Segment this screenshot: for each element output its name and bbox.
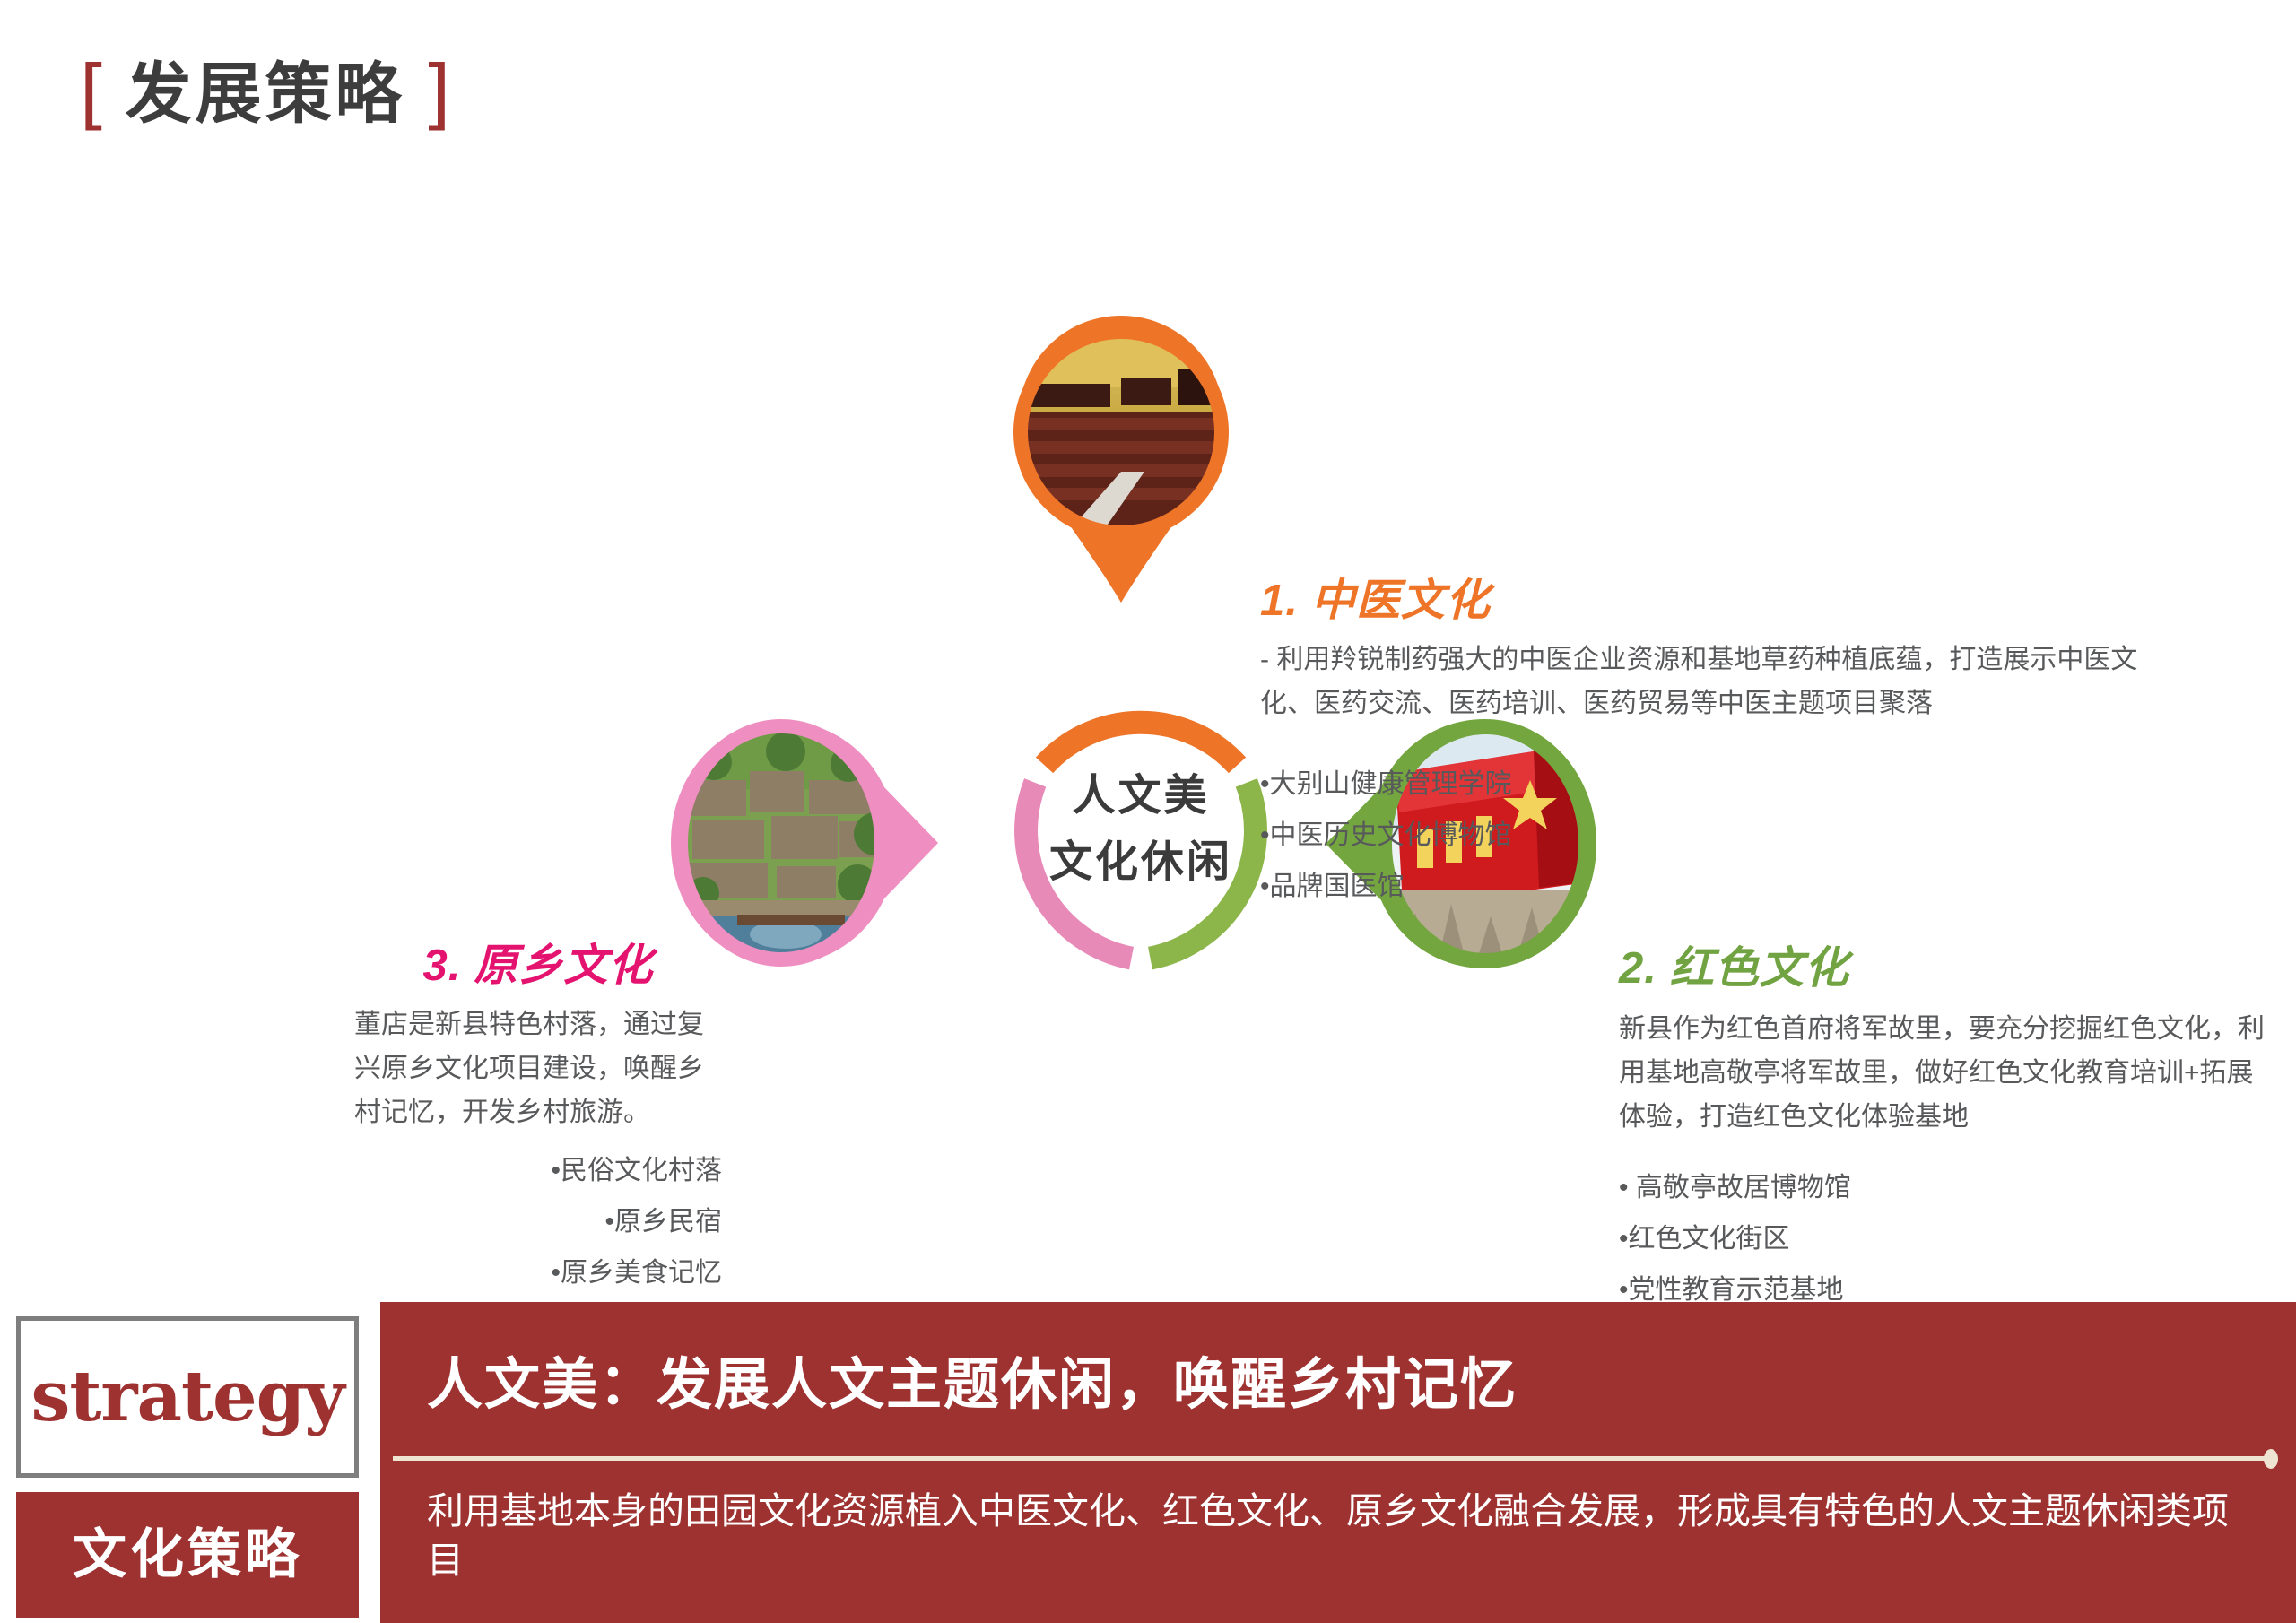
- culture-strategy-badge-label: 文化策略: [73, 1528, 302, 1582]
- section-3-number: 3.: [423, 942, 462, 990]
- banner-title: 人文美：发展人文主题休闲，唤醒乡村记忆: [427, 1358, 1518, 1413]
- section-3-list: •民俗文化村落 •原乡民宿 •原乡美食记忆: [354, 1145, 722, 1298]
- center-ring-label: 人文美 文化休闲: [979, 668, 1302, 991]
- culture-strategy-badge: 文化策略: [16, 1492, 359, 1618]
- section-native-village-culture: 3.原乡文化 董店是新县特色村落，通过复兴原乡文化项目建设，唤醒乡村记忆，开发乡…: [354, 943, 722, 1298]
- section-2-number: 2.: [1619, 944, 1657, 993]
- section-tcm-culture: 1.中医文化 - 利用羚锐制药强大的中医企业资源和基地草药种植底蕴，打造展示中医…: [1260, 578, 2166, 912]
- strategy-badge-label: strategy: [30, 1362, 344, 1432]
- section-red-culture: 2.红色文化 新县作为红色首府将军故里，要充分挖掘红色文化，利用基地高敬亭将军故…: [1619, 946, 2296, 1315]
- bracket-left-icon: [: [79, 56, 109, 133]
- section-3-heading: 3.原乡文化: [354, 943, 722, 989]
- section-2-list: • 高敬亭故居博物馆 •红色文化街区 •党性教育示范基地: [1619, 1162, 2296, 1315]
- center-line-1: 人文美: [1072, 775, 1209, 818]
- strategy-diagram: 人文美 文化休闲 1.中医文化 - 利用羚锐制药强大的中医企业资源和基地草药种植…: [0, 269, 2296, 1184]
- pin-native-village-culture[interactable]: [651, 708, 956, 977]
- section-1-lead: - 利用羚锐制药强大的中医企业资源和基地草药种植底蕴，打造展示中医文化、医药交流…: [1260, 638, 2166, 725]
- banner-divider: [393, 1456, 2271, 1461]
- pin-tcm-culture[interactable]: [987, 307, 1256, 621]
- section-2-lead: 新县作为红色首府将军故里，要充分挖掘红色文化，利用基地高敬亭将军故里，做好红色文…: [1619, 1008, 2274, 1139]
- list-item: •大别山健康管理学院: [1260, 759, 2166, 810]
- footer-bar: 人文美：发展人文主题休闲，唤醒乡村记忆 利用基地本身的田园文化资源植入中医文化、…: [0, 1302, 2296, 1623]
- footer-banner: 人文美：发展人文主题休闲，唤醒乡村记忆 利用基地本身的田园文化资源植入中医文化、…: [380, 1302, 2296, 1623]
- section-2-heading: 2.红色文化: [1619, 946, 2296, 992]
- section-1-title: 中医文化: [1311, 577, 1491, 625]
- section-1-heading: 1.中医文化: [1260, 578, 2166, 624]
- section-2-title: 红色文化: [1670, 944, 1849, 993]
- list-item: •原乡美食记忆: [354, 1247, 722, 1298]
- bracket-right-icon: ]: [422, 56, 452, 133]
- section-1-number: 1.: [1260, 577, 1299, 625]
- strategy-badge: strategy: [16, 1316, 359, 1478]
- map-pin-icon: [987, 307, 1256, 621]
- list-item: • 高敬亭故居博物馆: [1619, 1162, 2296, 1213]
- slide-root: [ 发展策略 ]: [0, 0, 2296, 1623]
- list-item: •红色文化街区: [1619, 1213, 2296, 1264]
- banner-divider-dot-icon: [2264, 1449, 2278, 1469]
- list-item: •品牌国医馆: [1260, 861, 2166, 912]
- section-3-title: 原乡文化: [474, 942, 653, 990]
- page-title: [ 发展策略 ]: [79, 56, 451, 133]
- banner-description: 利用基地本身的田园文化资源植入中医文化、红色文化、原乡文化融合发展，形成具有特色…: [427, 1487, 2230, 1586]
- map-pin-right-icon: [651, 708, 956, 977]
- list-item: •民俗文化村落: [354, 1145, 722, 1196]
- list-item: •中医历史文化博物馆: [1260, 810, 2166, 861]
- center-line-2: 文化休闲: [1049, 841, 1232, 884]
- section-3-lead: 董店是新县特色村落，通过复兴原乡文化项目建设，唤醒乡村记忆，开发乡村旅游。: [354, 1003, 722, 1134]
- section-1-list: •大别山健康管理学院 •中医历史文化博物馆 •品牌国医馆: [1260, 759, 2166, 912]
- page-title-text: 发展策略: [126, 61, 405, 127]
- list-item: •原乡民宿: [354, 1196, 722, 1247]
- center-ring: 人文美 文化休闲: [979, 668, 1302, 991]
